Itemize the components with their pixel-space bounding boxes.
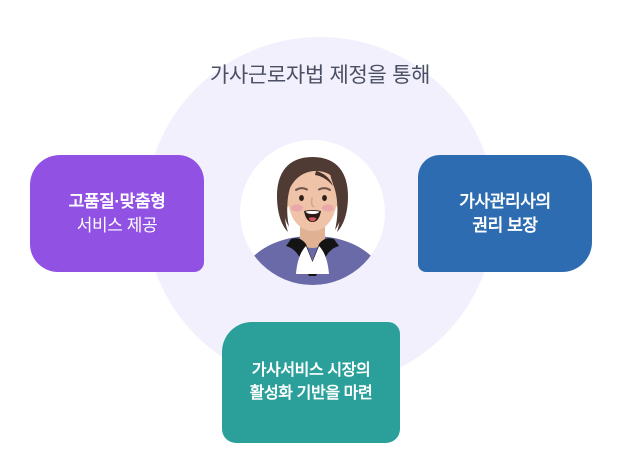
- node-line-2: 권리 보장: [472, 214, 537, 237]
- node-high-quality-service[interactable]: 고품질·맞춤형 서비스 제공: [30, 155, 204, 272]
- node-line-1: 가사관리사의: [459, 190, 550, 213]
- page-title: 가사근로자법 제정을 통해: [0, 59, 640, 89]
- node-line-1: 고품질·맞춤형: [69, 190, 166, 213]
- infographic-root: 가사근로자법 제정을 통해: [0, 0, 640, 471]
- node-manager-rights[interactable]: 가사관리사의 권리 보장: [418, 155, 592, 272]
- node-line-2: 서비스 제공: [77, 214, 158, 237]
- center-portrait: [240, 140, 385, 285]
- node-line-2: 활성화 기반을 마련: [250, 383, 373, 405]
- node-line-1: 가사서비스 시장의: [252, 360, 371, 382]
- node-market-activation[interactable]: 가사서비스 시장의 활성화 기반을 마련: [222, 322, 400, 443]
